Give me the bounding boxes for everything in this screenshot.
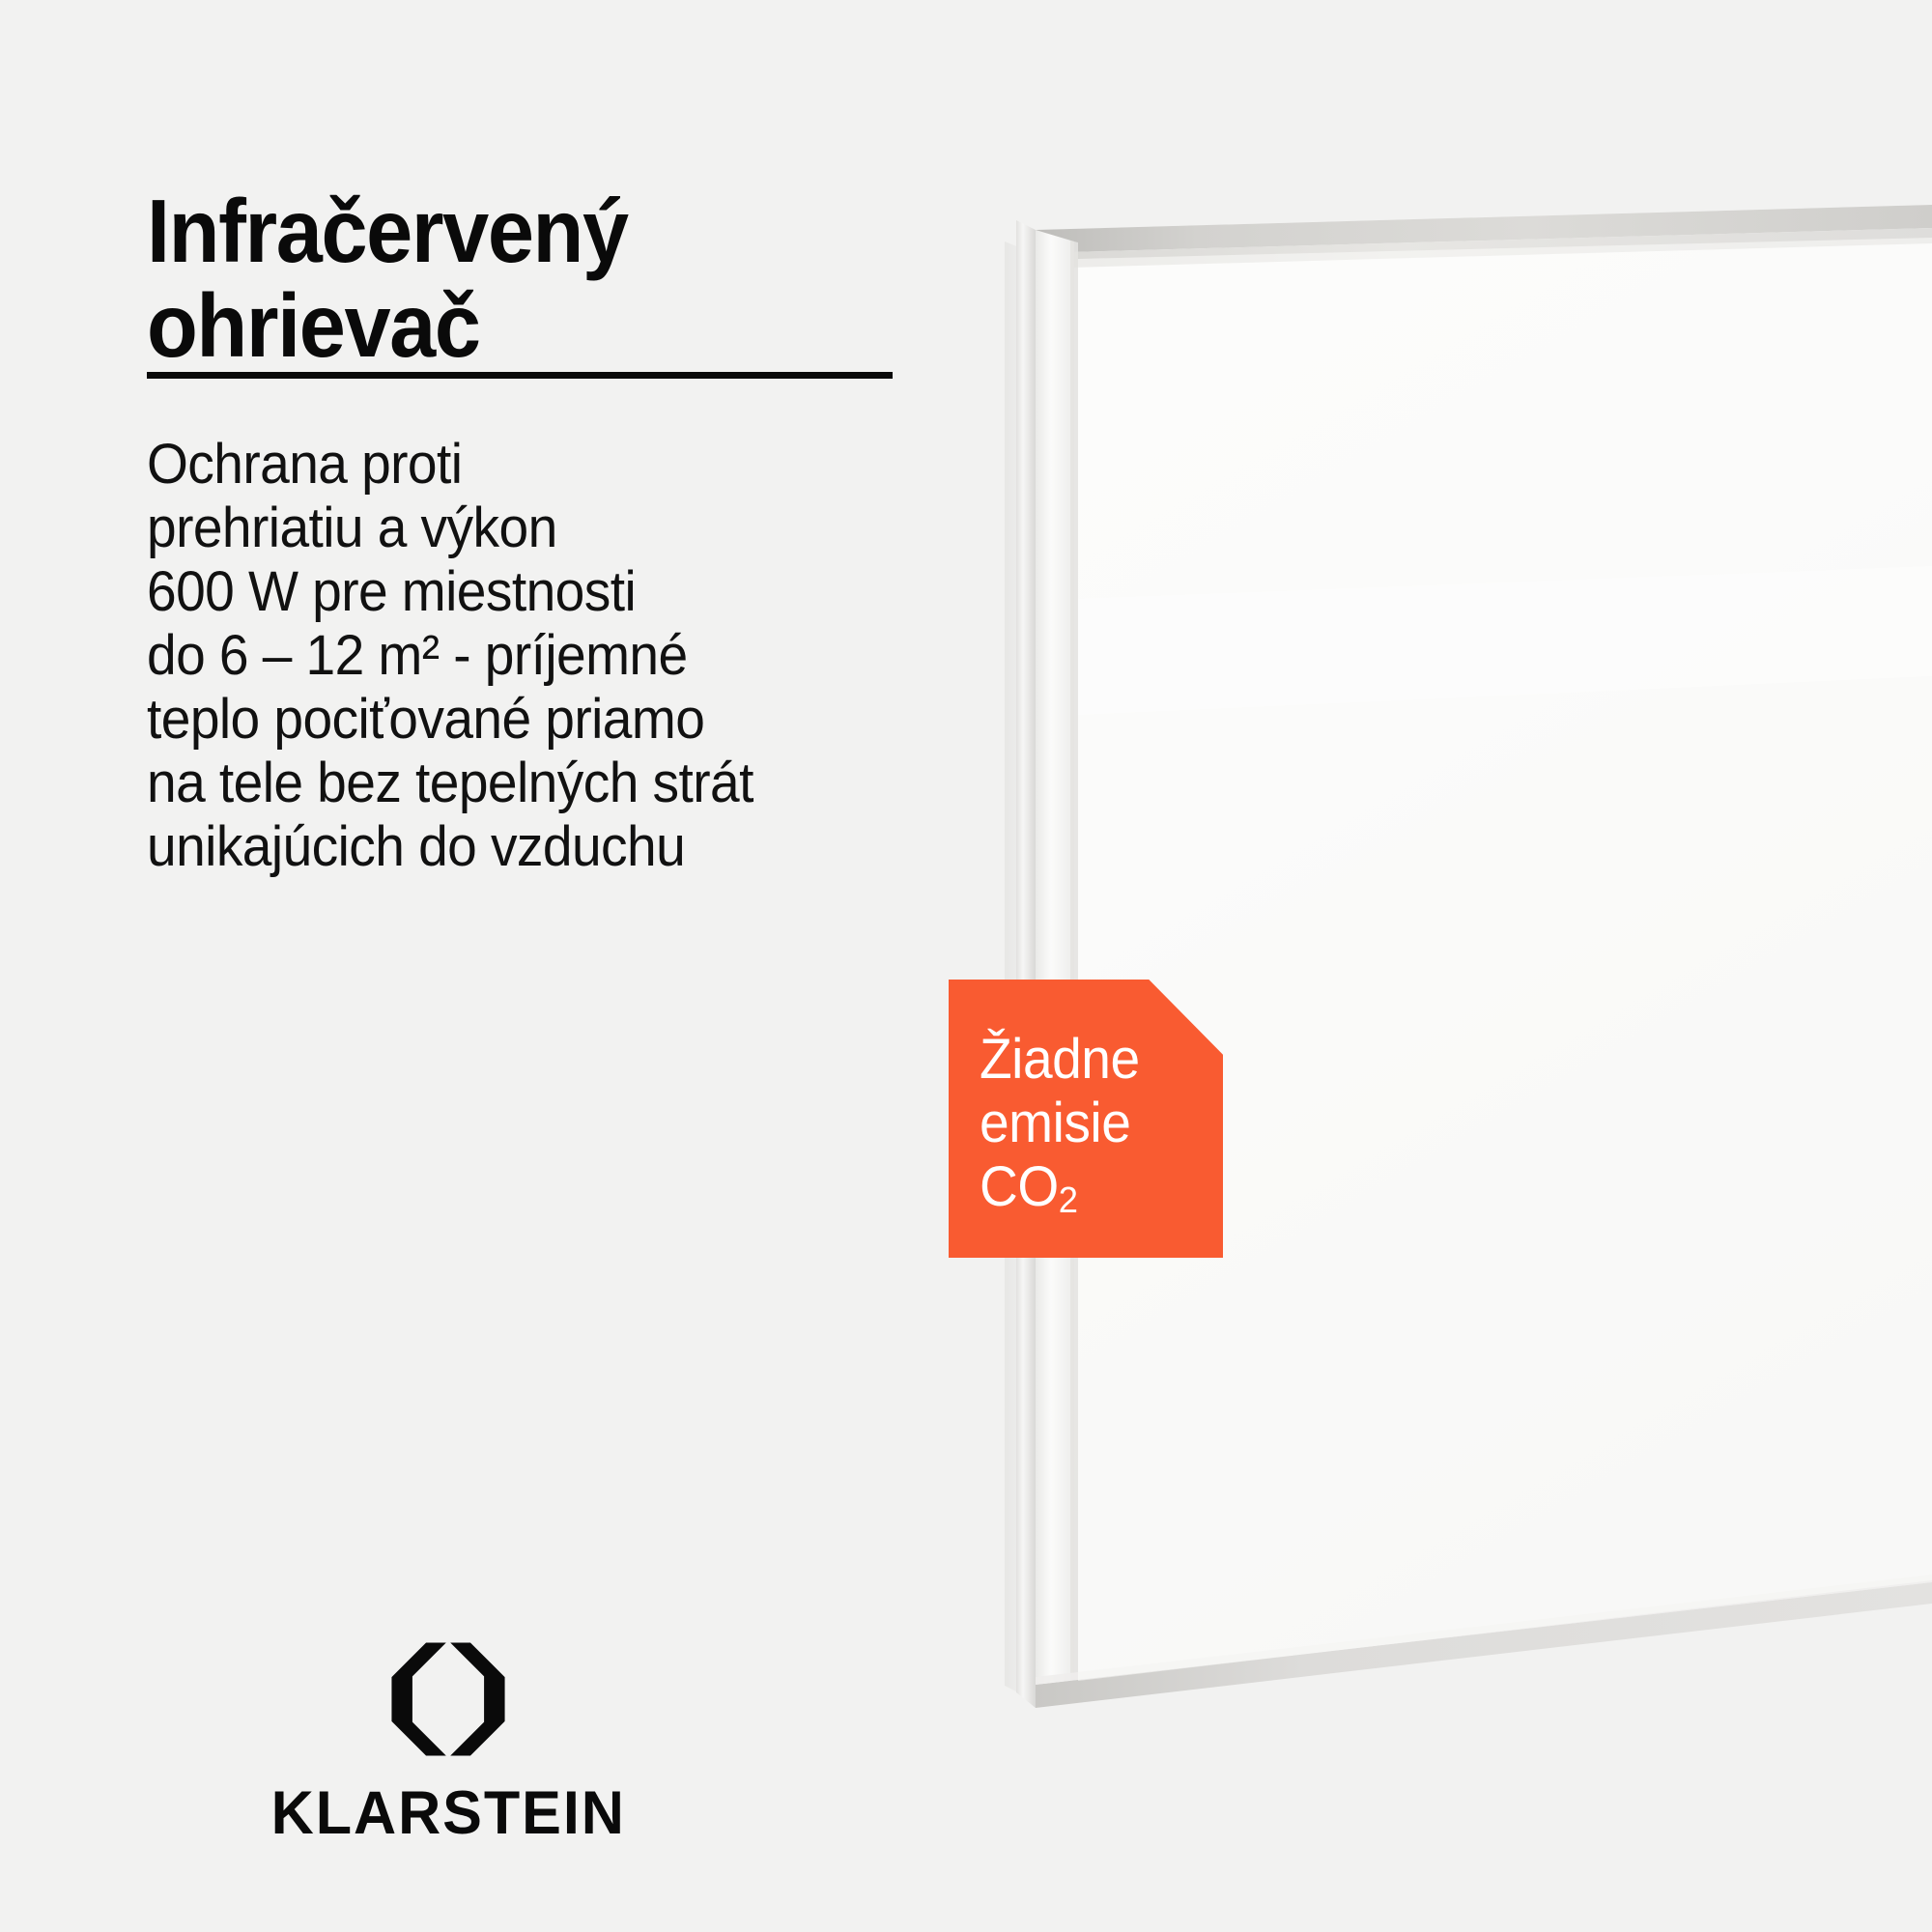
badge-line-3: CO (980, 1155, 1059, 1218)
divider (147, 372, 893, 379)
klarstein-octagon-icon (389, 1640, 507, 1758)
badge-line-3-subscript: 2 (1059, 1179, 1078, 1221)
status-badge: ŽiadneemisieCO2 (949, 980, 1223, 1258)
product-marketing-banner: Infračervený ohrievač Ochrana proti preh… (0, 0, 1932, 1932)
badge-label: ŽiadneemisieCO2 (980, 1028, 1140, 1233)
feature-description-text: Ochrana proti prehriatiu a výkon 600 W p… (147, 433, 753, 878)
badge-line-2: emisie (980, 1092, 1130, 1154)
badge-line-1: Žiadne (980, 1028, 1140, 1091)
infrared-heating-panel-illustration (966, 0, 1932, 1932)
brand-lockup: KLARSTEIN (266, 1640, 632, 1844)
page-title: Infračervený ohrievač (147, 184, 884, 373)
brand-name: KLARSTEIN (271, 1783, 626, 1844)
product-image (966, 0, 1932, 1932)
feature-description: Ochrana proti prehriatiu a výkon 600 W p… (147, 433, 918, 879)
